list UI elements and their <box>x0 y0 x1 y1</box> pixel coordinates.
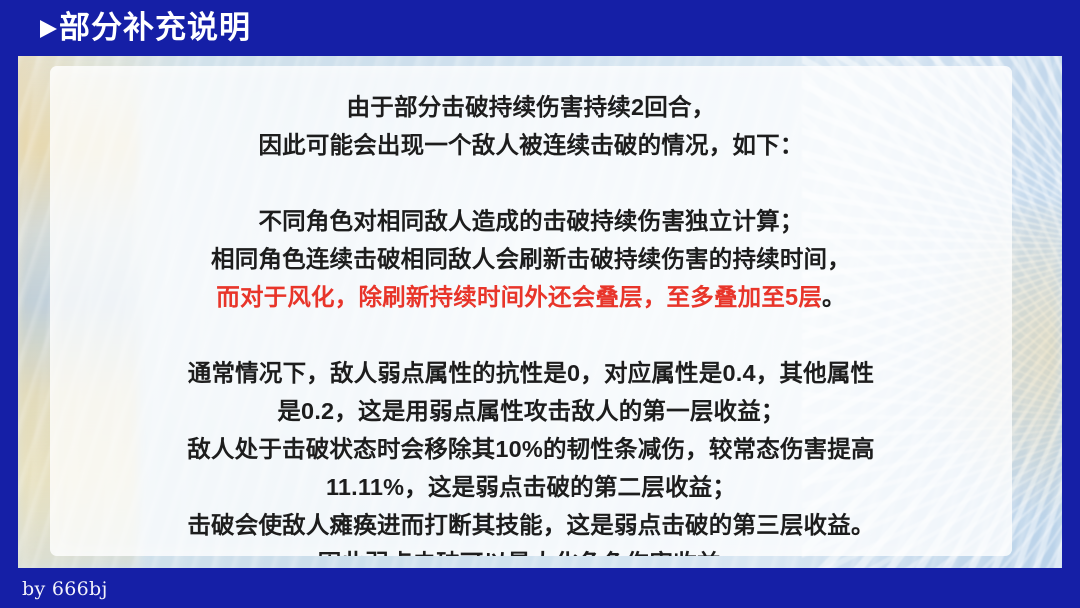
text-line: 相同角色连续击破相同敌人会刷新击破持续伤害的持续时间， <box>76 240 986 278</box>
text-line: 击破会使敌人瘫痪进而打断其技能，这是弱点击破的第三层收益。 <box>76 506 986 544</box>
slide: 部分补充说明 由于部分击破持续伤害持续2回合，因此可能会出现一个敌人被连续击破的… <box>0 0 1080 608</box>
paragraph-weakness-benefits: 通常情况下，敌人弱点属性的抗性是0，对应属性是0.4，其他属性是0.2，这是用弱… <box>76 354 986 556</box>
text-line: 是0.2，这是用弱点属性攻击敌人的第一层收益； <box>76 392 986 430</box>
triangle-right-icon <box>40 20 57 38</box>
text-line: 通常情况下，敌人弱点属性的抗性是0，对应属性是0.4，其他属性 <box>76 354 986 392</box>
text-line: 因此可能会出现一个敌人被连续击破的情况，如下： <box>76 126 986 164</box>
paragraph-stacking-rules: 不同角色对相同敌人造成的击破持续伤害独立计算；相同角色连续击破相同敌人会刷新击破… <box>76 202 986 316</box>
text-line: 由于部分击破持续伤害持续2回合， <box>76 88 986 126</box>
slide-title-bar: 部分补充说明 <box>0 0 1080 56</box>
text-line: 11.11%，这是弱点击破的第二层收益； <box>76 468 986 506</box>
text-line: 而对于风化，除刷新持续时间外还会叠层，至多叠加至5层。 <box>76 278 986 316</box>
watermark: by 666bj <box>22 578 108 600</box>
paragraph-intro: 由于部分击破持续伤害持续2回合，因此可能会出现一个敌人被连续击破的情况，如下： <box>76 88 986 164</box>
text-line: 不同角色对相同敌人造成的击破持续伤害独立计算； <box>76 202 986 240</box>
text-line: 敌人处于击破状态时会移除其10%的韧性条减伤，较常态伤害提高 <box>76 430 986 468</box>
text-line: 因此弱点击破可以最大化角色伤害收益。 <box>76 544 986 556</box>
background-photo-panel: 由于部分击破持续伤害持续2回合，因此可能会出现一个敌人被连续击破的情况，如下：不… <box>18 56 1062 568</box>
text-line-tail: 。 <box>822 284 846 310</box>
page-title: 部分补充说明 <box>59 13 251 44</box>
content-card: 由于部分击破持续伤害持续2回合，因此可能会出现一个敌人被连续击破的情况，如下：不… <box>50 66 1012 556</box>
